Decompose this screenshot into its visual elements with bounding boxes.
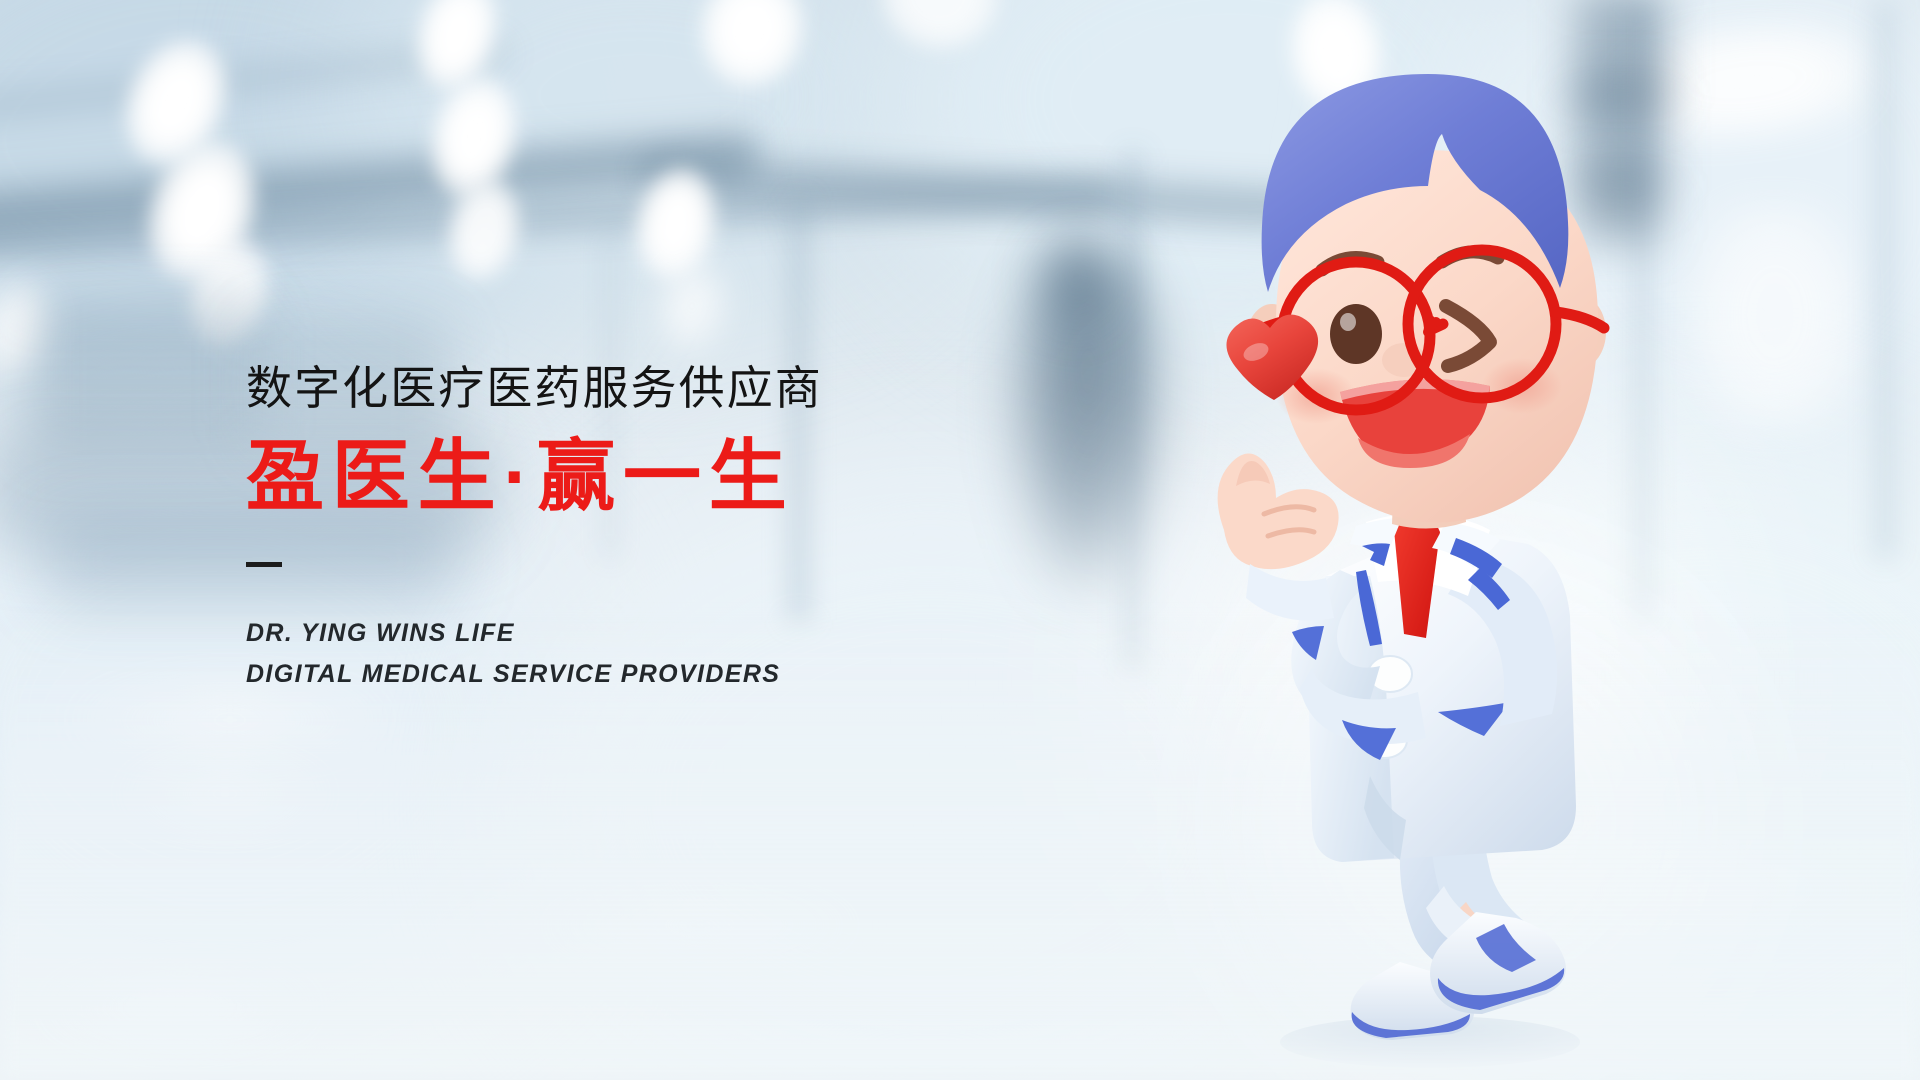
hero-copy: 数字化医疗医药服务供应商 盈医生·赢一生 DR. YING WINS LIFE … — [246, 365, 823, 694]
english-tagline-line-1: DR. YING WINS LIFE — [246, 613, 823, 654]
doctor-mascot — [1180, 40, 1670, 1070]
ceiling-light-bokeh — [1690, 200, 1860, 430]
hero-banner: 数字化医疗医药服务供应商 盈医生·赢一生 DR. YING WINS LIFE … — [0, 0, 1920, 1080]
english-tagline-line-2: DIGITAL MEDICAL SERVICE PROVIDERS — [246, 654, 823, 695]
kicker-text: 数字化医疗医药服务供应商 — [246, 365, 823, 411]
mascot-eye-highlight — [1340, 313, 1356, 331]
mascot-eye-open — [1330, 304, 1382, 364]
person-silhouette — [1034, 236, 1118, 332]
english-tagline: DR. YING WINS LIFE DIGITAL MEDICAL SERVI… — [246, 613, 823, 694]
page-title: 盈医生·赢一生 — [246, 437, 823, 515]
background-equipment — [30, 300, 260, 450]
divider — [246, 562, 282, 567]
glass-mullion — [1868, 0, 1902, 560]
mascot-wrist-cuff — [1246, 564, 1334, 621]
